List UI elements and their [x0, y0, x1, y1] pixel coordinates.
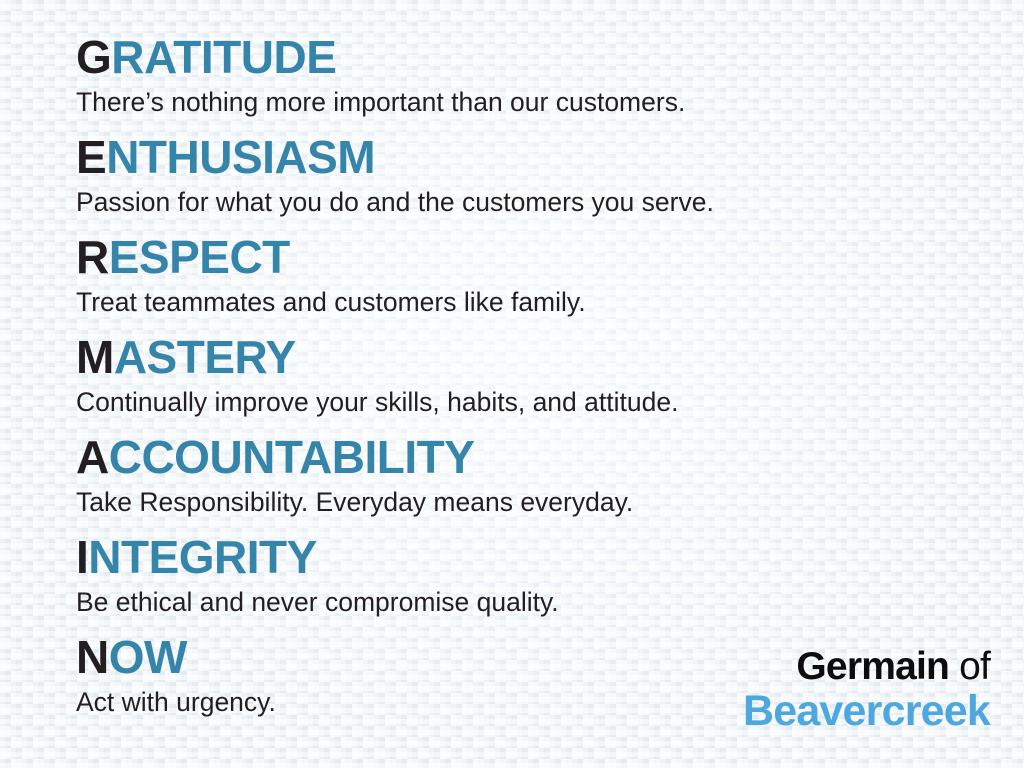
value-heading: GRATITUDE [76, 34, 976, 80]
value-heading-rest: CCOUNTABILITY [109, 431, 475, 483]
value-initial-letter: M [76, 331, 114, 383]
value-entry-mastery: MASTERY Continually improve your skills,… [76, 334, 976, 434]
value-description: Continually improve your skills, habits,… [76, 380, 976, 417]
value-description: Be ethical and never compromise quality. [76, 580, 976, 617]
value-initial-letter: E [76, 131, 106, 183]
value-heading: INTEGRITY [76, 534, 976, 580]
values-list: GRATITUDE There’s nothing more important… [76, 34, 976, 734]
value-description: Treat teammates and customers like famil… [76, 280, 976, 317]
logo-line-primary: Germain of [743, 646, 990, 688]
value-heading-rest: RATITUDE [111, 31, 336, 83]
value-heading: ENTHUSIASM [76, 134, 976, 180]
value-heading-rest: NTHUSIASM [106, 131, 375, 183]
value-initial-letter: A [76, 431, 109, 483]
value-heading: RESPECT [76, 234, 976, 280]
value-description: Passion for what you do and the customer… [76, 180, 976, 217]
value-entry-gratitude: GRATITUDE There’s nothing more important… [76, 34, 976, 134]
value-description: Take Responsibility. Everyday means ever… [76, 480, 976, 517]
value-initial-letter: N [76, 631, 109, 683]
value-heading-rest: ASTERY [114, 331, 296, 383]
value-heading: ACCOUNTABILITY [76, 434, 976, 480]
values-poster: GRATITUDE There’s nothing more important… [0, 0, 1024, 768]
value-entry-respect: RESPECT Treat teammates and customers li… [76, 234, 976, 334]
value-heading: MASTERY [76, 334, 976, 380]
value-initial-letter: I [76, 531, 88, 583]
value-heading-rest: OW [109, 631, 187, 683]
value-initial-letter: R [76, 231, 109, 283]
value-initial-letter: G [76, 31, 111, 83]
value-entry-integrity: INTEGRITY Be ethical and never compromis… [76, 534, 976, 634]
value-entry-accountability: ACCOUNTABILITY Take Responsibility. Ever… [76, 434, 976, 534]
dealership-logo: Germain of Beavercreek [743, 646, 990, 734]
value-entry-enthusiasm: ENTHUSIASM Passion for what you do and t… [76, 134, 976, 234]
logo-brand-name: Germain [796, 645, 949, 688]
logo-location-name: Beavercreek [743, 688, 990, 734]
logo-connector-word: of [949, 645, 990, 688]
value-description: There’s nothing more important than our … [76, 80, 976, 117]
value-heading-rest: ESPECT [109, 231, 290, 283]
value-heading-rest: NTEGRITY [88, 531, 317, 583]
